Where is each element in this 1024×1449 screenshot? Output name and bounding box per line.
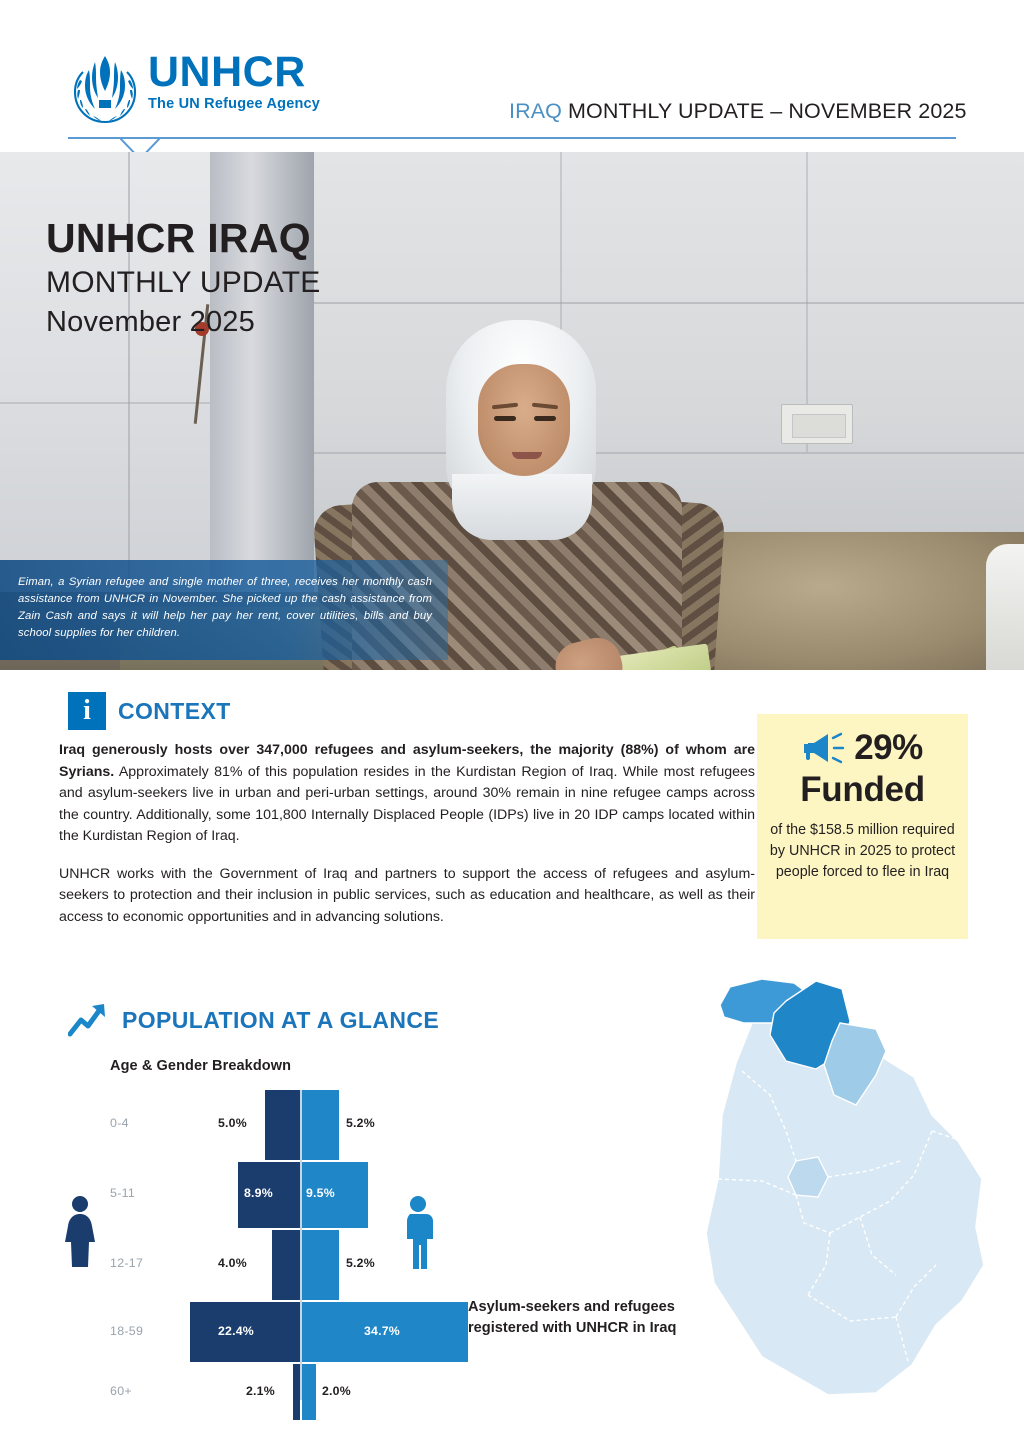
bar-male-4 [302,1364,316,1420]
header-title: IRAQ MONTHLY UPDATE – NOVEMBER 2025 [509,99,967,124]
population-heading-label: POPULATION AT A GLANCE [122,1007,439,1034]
bar-female-4 [293,1364,300,1420]
iraq-map-icon [700,965,1020,1400]
funding-description: of the $158.5 million required by UNHCR … [757,820,968,883]
growth-arrow-icon [68,1000,108,1040]
document-page: UNHCR The UN Refugee Agency IRAQ MONTHLY… [0,0,1024,1449]
info-icon: i [68,692,106,730]
hero-subtitle: MONTHLY UPDATE [46,264,321,302]
hero-caption: Eiman, a Syrian refugee and single mothe… [0,560,448,660]
context-heading-label: CONTEXT [118,698,231,725]
logo-wordmark: UNHCR [148,52,320,93]
context-section-heading: i CONTEXT [68,692,231,730]
context-paragraph-1: Iraq generously hosts over 347,000 refug… [59,740,755,848]
value-female-0: 5.0% [218,1116,247,1130]
logo-text-block: UNHCR The UN Refugee Agency [148,48,320,112]
context-para1-rest: Approximately 81% of this population res… [59,764,755,845]
logo-tagline: The UN Refugee Agency [148,96,320,112]
hero-title-block: UNHCR IRAQ MONTHLY UPDATE November 2025 [46,216,321,340]
value-female-1: 8.9% [244,1186,273,1200]
funding-top-row: 29% [757,728,968,768]
funding-box: 29% Funded of the $158.5 million require… [757,714,968,939]
header-divider [68,137,956,139]
female-figure-icon [62,1195,98,1269]
age-label-1: 5-11 [110,1186,172,1200]
age-label-2: 12-17 [110,1256,172,1270]
value-female-2: 4.0% [218,1256,247,1270]
bar-male-2 [302,1230,339,1300]
hero-caption-text: Eiman, a Syrian refugee and single mothe… [18,574,432,643]
header-title-rest: MONTHLY UPDATE – NOVEMBER 2025 [562,99,967,123]
age-label-4: 60+ [110,1384,172,1398]
age-label-0: 0-4 [110,1116,172,1130]
bar-female-0 [265,1090,300,1160]
bar-female-2 [272,1230,300,1300]
value-female-3: 22.4% [218,1324,254,1338]
header-title-country: IRAQ [509,99,562,123]
hero-banner: UNHCR IRAQ MONTHLY UPDATE November 2025 … [0,152,1024,670]
context-paragraph-2: UNHCR works with the Government of Iraq … [59,864,755,929]
value-male-1: 9.5% [306,1186,335,1200]
pyramid-row: 18-59 22.4% 34.7% [110,1302,470,1362]
map-caption: Asylum-seekers and refugees registered w… [468,1297,718,1338]
value-male-2: 5.2% [346,1256,375,1270]
value-male-3: 34.7% [364,1324,400,1338]
value-male-0: 5.2% [346,1116,375,1130]
megaphone-icon [802,729,848,767]
page-header: UNHCR The UN Refugee Agency IRAQ MONTHLY… [0,0,1024,152]
population-section-heading: POPULATION AT A GLANCE [68,1000,439,1040]
unhcr-logo: UNHCR The UN Refugee Agency [68,48,320,126]
hero-title: UNHCR IRAQ [46,216,321,260]
pyramid-row: 60+ 2.1% 2.0% [110,1364,470,1420]
bar-male-0 [302,1090,339,1160]
unhcr-emblem-icon [68,48,142,126]
iraq-map [700,965,1020,1400]
funding-label: Funded [757,770,968,810]
hero-date: November 2025 [46,304,321,340]
value-female-4: 2.1% [246,1384,275,1398]
value-male-4: 2.0% [322,1384,351,1398]
male-figure-icon [400,1195,436,1269]
chart-title: Age & Gender Breakdown [110,1058,291,1074]
funding-percentage: 29% [854,728,923,768]
context-body: Iraq generously hosts over 347,000 refug… [59,740,755,929]
pyramid-row: 0-4 5.0% 5.2% [110,1090,470,1160]
age-label-3: 18-59 [110,1324,172,1338]
